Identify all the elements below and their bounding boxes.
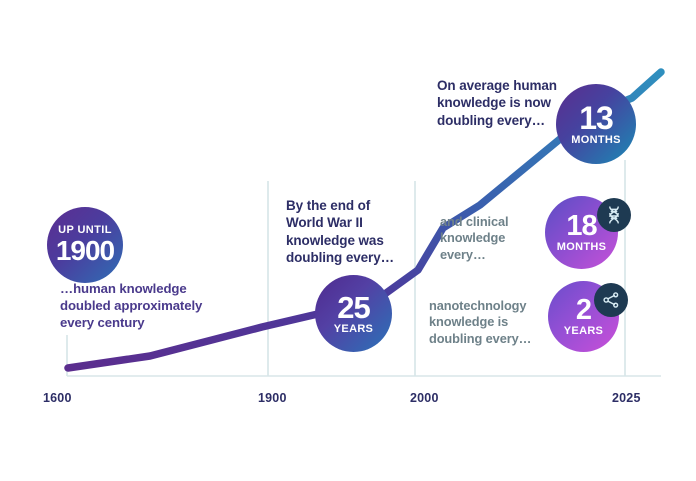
bubble-13-unit: MONTHS (571, 135, 620, 146)
callout-clinical-text: and clinical knowledge every… (440, 214, 550, 263)
callout-ww2-text: By the end of World War II knowledge was… (286, 197, 416, 266)
axis-tick-1900: 1900 (258, 391, 287, 405)
bubble-18-number: 18 (566, 212, 596, 241)
bubble-25-unit: YEARS (334, 324, 373, 335)
axis-tick-2025: 2025 (612, 391, 641, 405)
bubble-1900-number: 1900 (56, 237, 114, 265)
bubble-2-unit: YEARS (564, 326, 603, 337)
bubble-18-unit: MONTHS (557, 242, 606, 253)
bubble-13-number: 13 (579, 102, 613, 134)
bubble-25-number: 25 (337, 292, 369, 323)
axis-tick-1600: 1600 (43, 391, 72, 405)
bubble-2-number: 2 (576, 296, 591, 325)
dna-helix-icon (597, 198, 631, 232)
bubble-up-until-1900: UP UNTIL 1900 (47, 207, 123, 283)
bubble-13-months: 13 MONTHS (556, 84, 636, 164)
molecule-share-icon (594, 283, 628, 317)
bubble-25-years: 25 YEARS (315, 275, 392, 352)
axis-tick-2000: 2000 (410, 391, 439, 405)
callout-nano-text: nanotechnology knowledge is doubling eve… (429, 298, 554, 347)
knowledge-doubling-infographic: …human knowledge doubled approximately e… (0, 0, 696, 481)
callout-century-text: …human knowledge doubled approximately e… (60, 281, 250, 332)
